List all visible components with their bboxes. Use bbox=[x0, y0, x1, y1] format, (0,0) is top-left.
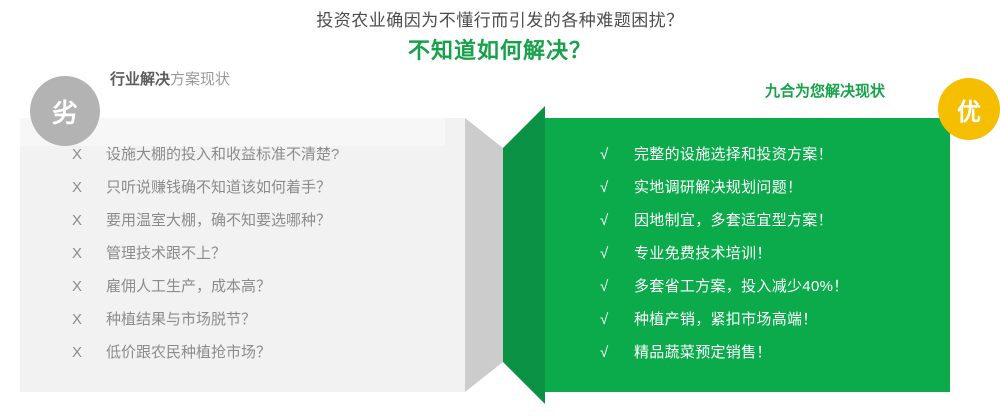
cross-mark-icon: X bbox=[72, 336, 106, 369]
cross-mark-icon: X bbox=[72, 204, 106, 237]
check-mark-icon: √ bbox=[600, 138, 634, 171]
superior-badge: 优 bbox=[938, 78, 1000, 140]
list-item-label: 实地调研解决规划问题！ bbox=[634, 171, 802, 204]
left-panel-list: X 设施大棚的投入和收益标准不清楚? X 只听说赚钱确不知道该如何着手？ X 要… bbox=[72, 138, 452, 369]
list-item-label: 因地制宜，多套适宜型方案！ bbox=[634, 204, 833, 237]
list-item-label: 管理技术跟不上？ bbox=[106, 237, 226, 270]
check-mark-icon: √ bbox=[600, 270, 634, 303]
check-mark-icon: √ bbox=[600, 204, 634, 237]
list-item: √ 多套省工方案，投入减少40%！ bbox=[600, 270, 950, 303]
list-item: √ 精品蔬菜预定销售！ bbox=[600, 336, 950, 369]
list-item: X 管理技术跟不上？ bbox=[72, 237, 452, 270]
headline-block: 投资农业确因为不懂行而引发的各种难题困扰？ 不知道如何解决？ bbox=[0, 8, 1000, 66]
list-item: X 只听说赚钱确不知道该如何着手？ bbox=[72, 171, 452, 204]
list-item: X 种植结果与市场脱节？ bbox=[72, 303, 452, 336]
cross-mark-icon: X bbox=[72, 237, 106, 270]
inferior-badge-label: 劣 bbox=[52, 93, 78, 130]
headline-line-1: 投资农业确因为不懂行而引发的各种难题困扰？ bbox=[0, 8, 1000, 34]
cross-mark-icon: X bbox=[72, 270, 106, 303]
list-item: X 要用温室大棚，确不知要选哪种？ bbox=[72, 204, 452, 237]
list-item: √ 种植产销，紧扣市场高端！ bbox=[600, 303, 950, 336]
list-item-label: 多套省工方案，投入减少40%！ bbox=[634, 270, 849, 303]
list-item-label: 低价跟农民种植抢市场？ bbox=[106, 336, 271, 369]
list-item-label: 专业免费技术培训！ bbox=[634, 237, 772, 270]
check-mark-icon: √ bbox=[600, 237, 634, 270]
cross-mark-icon: X bbox=[72, 138, 106, 171]
check-mark-icon: √ bbox=[600, 303, 634, 336]
inferior-badge: 劣 bbox=[30, 76, 100, 146]
list-item: √ 专业免费技术培训！ bbox=[600, 237, 950, 270]
list-item: √ 完整的设施选择和投资方案！ bbox=[600, 138, 950, 171]
list-item-label: 设施大棚的投入和收益标准不清楚? bbox=[106, 138, 339, 171]
list-item: X 雇佣人工生产，成本高？ bbox=[72, 270, 452, 303]
right-panel-list: √ 完整的设施选择和投资方案！ √ 实地调研解决规划问题！ √ 因地制宜，多套适… bbox=[600, 138, 950, 369]
list-item-label: 只听说赚钱确不知道该如何着手？ bbox=[106, 171, 331, 204]
list-item: X 低价跟农民种植抢市场？ bbox=[72, 336, 452, 369]
right-panel-title: 九合为您解决现状 bbox=[765, 82, 885, 102]
left-panel-title: 行业解决方案现状 bbox=[110, 70, 230, 90]
list-item-label: 雇佣人工生产，成本高？ bbox=[106, 270, 271, 303]
list-item-label: 种植产销，紧扣市场高端！ bbox=[634, 303, 818, 336]
list-item: √ 因地制宜，多套适宜型方案！ bbox=[600, 204, 950, 237]
check-mark-icon: √ bbox=[600, 171, 634, 204]
list-item-label: 精品蔬菜预定销售！ bbox=[634, 336, 772, 369]
list-item-label: 种植结果与市场脱节？ bbox=[106, 303, 256, 336]
list-item: X 设施大棚的投入和收益标准不清楚? bbox=[72, 138, 452, 171]
list-item-label: 要用温室大棚，确不知要选哪种？ bbox=[106, 204, 331, 237]
cross-mark-icon: X bbox=[72, 171, 106, 204]
left-panel-title-light: 方案现状 bbox=[170, 71, 230, 88]
comparison-infographic: 投资农业确因为不懂行而引发的各种难题困扰？ 不知道如何解决？ 劣 优 行业解决方… bbox=[0, 0, 1000, 416]
left-panel-title-strong: 行业解决 bbox=[110, 71, 170, 88]
cross-mark-icon: X bbox=[72, 303, 106, 336]
list-item: √ 实地调研解决规划问题！ bbox=[600, 171, 950, 204]
superior-badge-label: 优 bbox=[957, 92, 981, 127]
check-mark-icon: √ bbox=[600, 336, 634, 369]
headline-line-2: 不知道如何解决？ bbox=[0, 36, 1000, 66]
list-item-label: 完整的设施选择和投资方案！ bbox=[634, 138, 833, 171]
